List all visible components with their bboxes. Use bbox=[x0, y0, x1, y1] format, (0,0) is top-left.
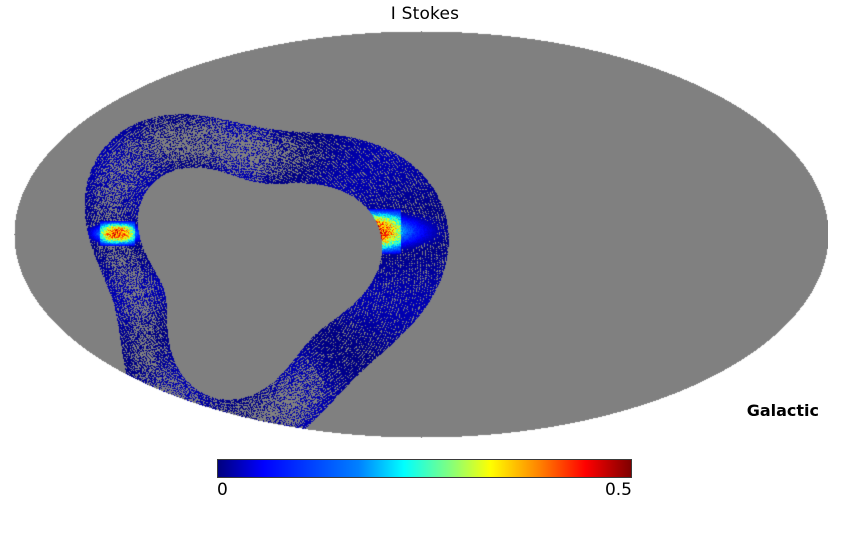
sky-projection bbox=[14, 31, 828, 438]
colorbar-gradient bbox=[217, 459, 632, 478]
colorbar-min-label: 0 bbox=[217, 480, 228, 500]
colorbar-max-label: 0.5 bbox=[605, 480, 632, 500]
mollweide-projection-canvas bbox=[14, 31, 828, 438]
mollweide-sky-map-figure: I Stokes Galactic 0 0.5 bbox=[0, 0, 850, 540]
coordinate-system-label: Galactic bbox=[747, 401, 819, 420]
page-title: I Stokes bbox=[0, 4, 850, 24]
colorbar: 0 0.5 bbox=[217, 459, 632, 504]
colorbar-tick-labels: 0 0.5 bbox=[217, 480, 632, 504]
